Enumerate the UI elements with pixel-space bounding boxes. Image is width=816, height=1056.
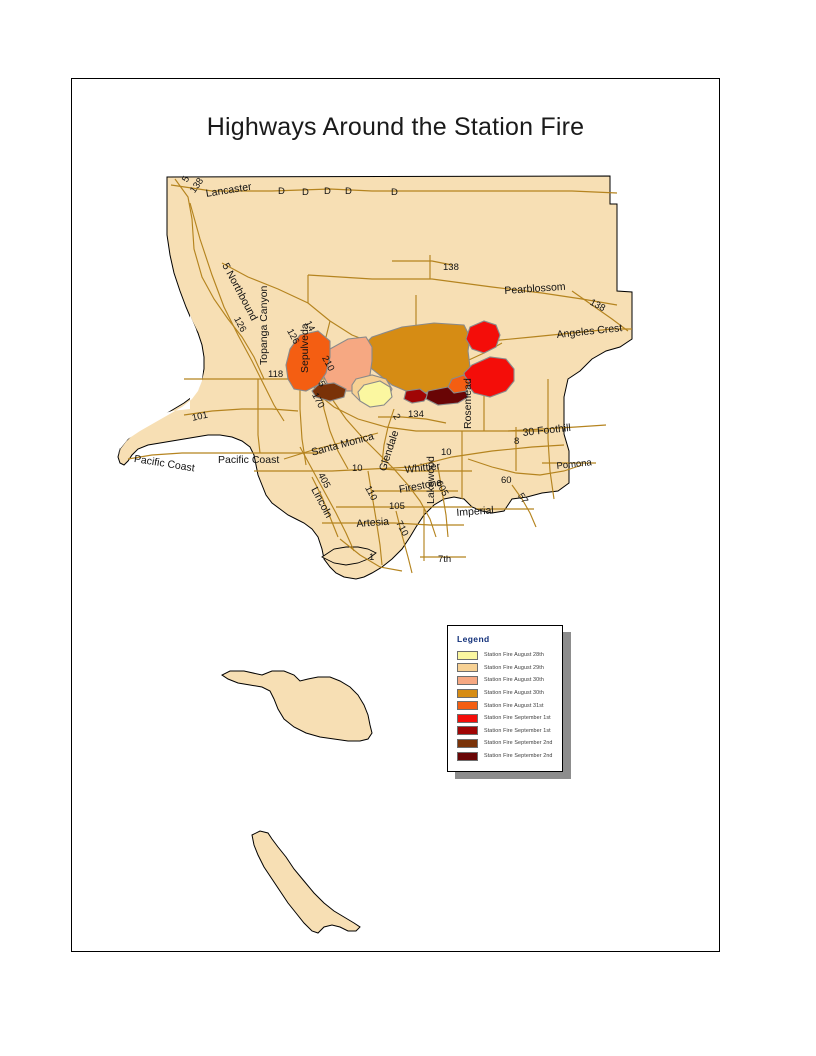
map-label-d-label-4: D xyxy=(345,186,352,197)
legend-color-swatch xyxy=(457,689,478,698)
legend-item-label: Station Fire September 2nd xyxy=(484,740,553,746)
legend-color-swatch xyxy=(457,651,478,660)
legend-item-label: Station Fire August 30th xyxy=(484,677,544,683)
legend-item-label: Station Fire August 28th xyxy=(484,652,544,658)
legend-item-label: Station Fire August 31st xyxy=(484,703,544,709)
map-label-d-label-2: D xyxy=(302,187,309,198)
legend-item[interactable]: Station Fire September 2nd xyxy=(457,750,553,763)
map-label-hwy-1: 1 xyxy=(369,552,374,563)
legend-item[interactable]: Station Fire August 30th xyxy=(457,674,553,687)
legend-color-swatch xyxy=(457,726,478,735)
legend-item[interactable]: Station Fire August 29th xyxy=(457,662,553,675)
map-label-hwy-10-east: 10 xyxy=(441,447,452,458)
map-label-d-label-3: D xyxy=(324,186,331,197)
map-label-road-rosemead: Rosemead xyxy=(462,378,474,429)
legend-color-swatch xyxy=(457,752,478,761)
map-label-hwy-105: 105 xyxy=(389,501,405,512)
map-label-hwy-8: 8 xyxy=(514,436,519,447)
legend-panel[interactable]: Legend Station Fire August 28thStation F… xyxy=(447,625,563,772)
legend-item[interactable]: Station Fire August 31st xyxy=(457,699,553,712)
legend-item[interactable]: Station Fire September 1st xyxy=(457,725,553,738)
legend-color-swatch xyxy=(457,663,478,672)
map-label-road-artesia: Artesia xyxy=(356,516,389,530)
channel-islands-layer xyxy=(222,671,372,933)
legend-item-label: Station Fire September 2nd xyxy=(484,753,553,759)
legend-item-label: Station Fire September 1st xyxy=(484,728,551,734)
map-label-d-label-5: D xyxy=(391,187,398,198)
map-label-hwy-10-west: 10 xyxy=(352,463,363,474)
legend-title: Legend xyxy=(457,634,490,644)
map-page-frame: Highways Around the Station Fire xyxy=(71,78,720,952)
legend-item[interactable]: Station Fire September 2nd xyxy=(457,737,553,750)
island-san-clemente xyxy=(252,831,360,933)
legend-item[interactable]: Station Fire August 28th xyxy=(457,649,553,662)
legend-item-label: Station Fire August 30th xyxy=(484,690,544,696)
legend-color-swatch xyxy=(457,701,478,710)
map-label-road-topanga-canyon: Topanga Canyon xyxy=(258,286,270,365)
legend-item[interactable]: Station Fire September 1st xyxy=(457,712,553,725)
legend-item-label: Station Fire September 1st xyxy=(484,715,551,721)
map-label-road-lakewood: Lakewood xyxy=(425,456,437,504)
legend-item[interactable]: Station Fire August 30th xyxy=(457,687,553,700)
map-label-road-sepulveda: Sepulveda xyxy=(299,323,311,373)
legend-color-swatch xyxy=(457,676,478,685)
map-label-hwy-118: 118 xyxy=(268,369,283,380)
map-label-road-7th: 7th xyxy=(438,554,451,565)
legend-color-swatch xyxy=(457,739,478,748)
map-label-road-pacific-coast-2: Pacific Coast xyxy=(218,454,279,466)
map-label-hwy-138-mid: 138 xyxy=(443,262,459,273)
legend-item-list: Station Fire August 28thStation Fire Aug… xyxy=(457,649,553,762)
map-label-d-label-1: D xyxy=(278,186,285,197)
map-label-hwy-134: 134 xyxy=(408,409,424,420)
legend-item-label: Station Fire August 29th xyxy=(484,665,544,671)
island-santa-catalina xyxy=(222,671,372,741)
map-canvas[interactable]: 5138LancasterDDDDD138Pearblossom138Angel… xyxy=(72,79,721,953)
legend-color-swatch xyxy=(457,714,478,723)
map-label-hwy-60: 60 xyxy=(501,475,512,486)
